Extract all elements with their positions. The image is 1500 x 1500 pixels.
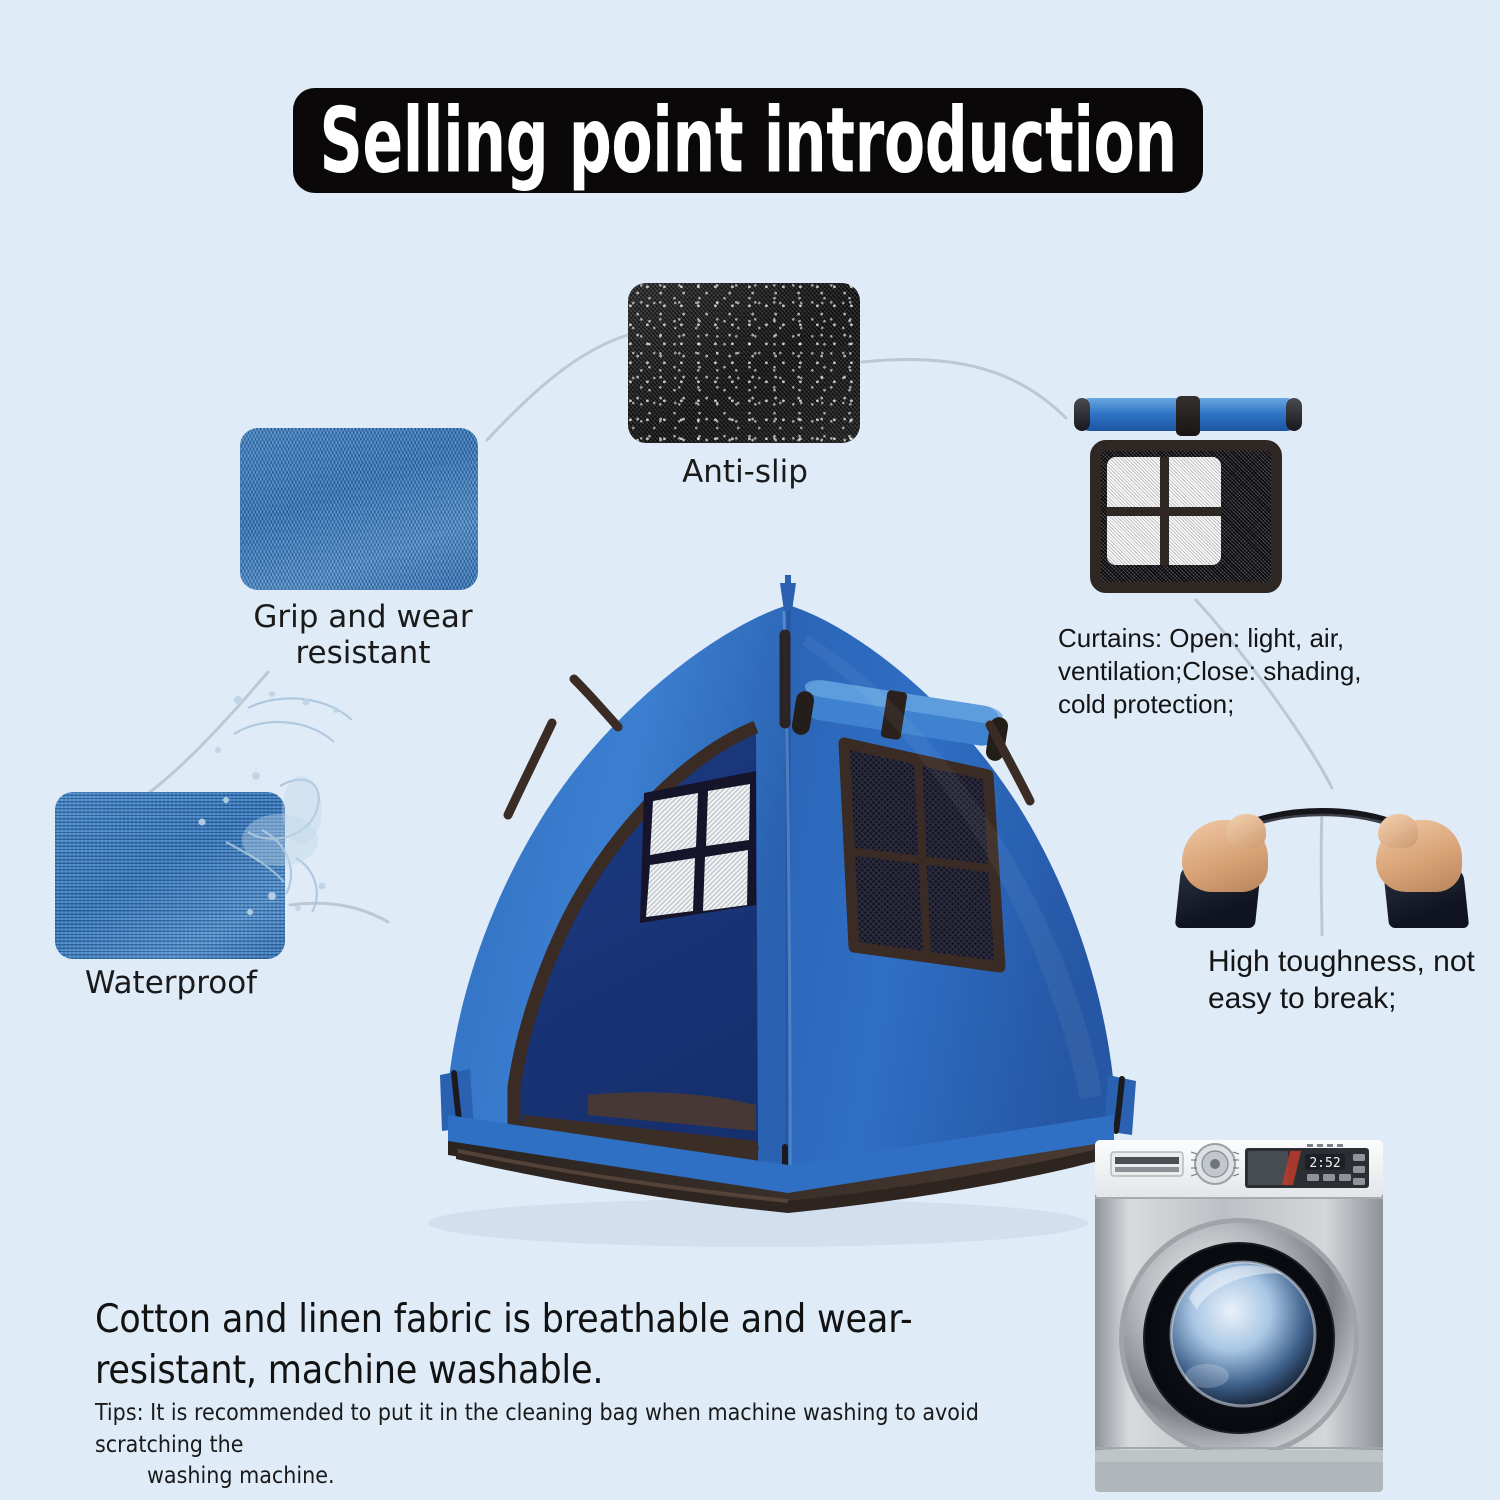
window-pane xyxy=(1107,516,1160,566)
anti-slip-swatch xyxy=(628,283,860,443)
bottom-headline: Cotton and linen fabric is breathable an… xyxy=(95,1295,1055,1396)
curtain-window-panes xyxy=(1107,457,1221,565)
window-pane xyxy=(1169,457,1222,507)
page-title: Selling point introduction xyxy=(319,96,1176,186)
curtain-roll-end-left xyxy=(1074,398,1090,431)
waterproof-label: Waterproof xyxy=(40,966,302,1002)
title-banner: Selling point introduction xyxy=(293,88,1203,193)
curtain-panel-photo xyxy=(1068,398,1308,593)
pet-tent-illustration xyxy=(288,575,1198,1265)
left-thumb xyxy=(1226,814,1266,848)
infographic-page: Selling point introduction Anti-slip Gri… xyxy=(0,0,1500,1500)
washing-machine-photo: 2:52 xyxy=(1085,1118,1395,1500)
curtain-roll-end-right xyxy=(1286,398,1302,431)
curtain-strap xyxy=(1176,396,1200,436)
bottom-tip: Tips: It is recommended to put it in the… xyxy=(95,1398,1025,1493)
tip-label: Tips: xyxy=(95,1400,144,1426)
right-thumb xyxy=(1378,814,1418,848)
tip-line-1: It is recommended to put it in the clean… xyxy=(95,1400,979,1458)
washer-display-value: 2:52 xyxy=(1309,1156,1340,1171)
toughness-label: High toughness, not easy to break; xyxy=(1208,944,1500,1017)
grip-wear-swatch xyxy=(240,428,478,590)
tip-line-2: washing machine. xyxy=(95,1461,1025,1493)
window-pane xyxy=(1169,516,1222,566)
waterproof-swatch xyxy=(55,792,285,959)
curtain-mesh-panel xyxy=(1090,440,1282,593)
right-hand xyxy=(1368,810,1466,928)
anti-slip-label: Anti-slip xyxy=(610,455,880,491)
pole-bend-photo xyxy=(1178,788,1466,928)
window-pane xyxy=(1107,457,1160,507)
